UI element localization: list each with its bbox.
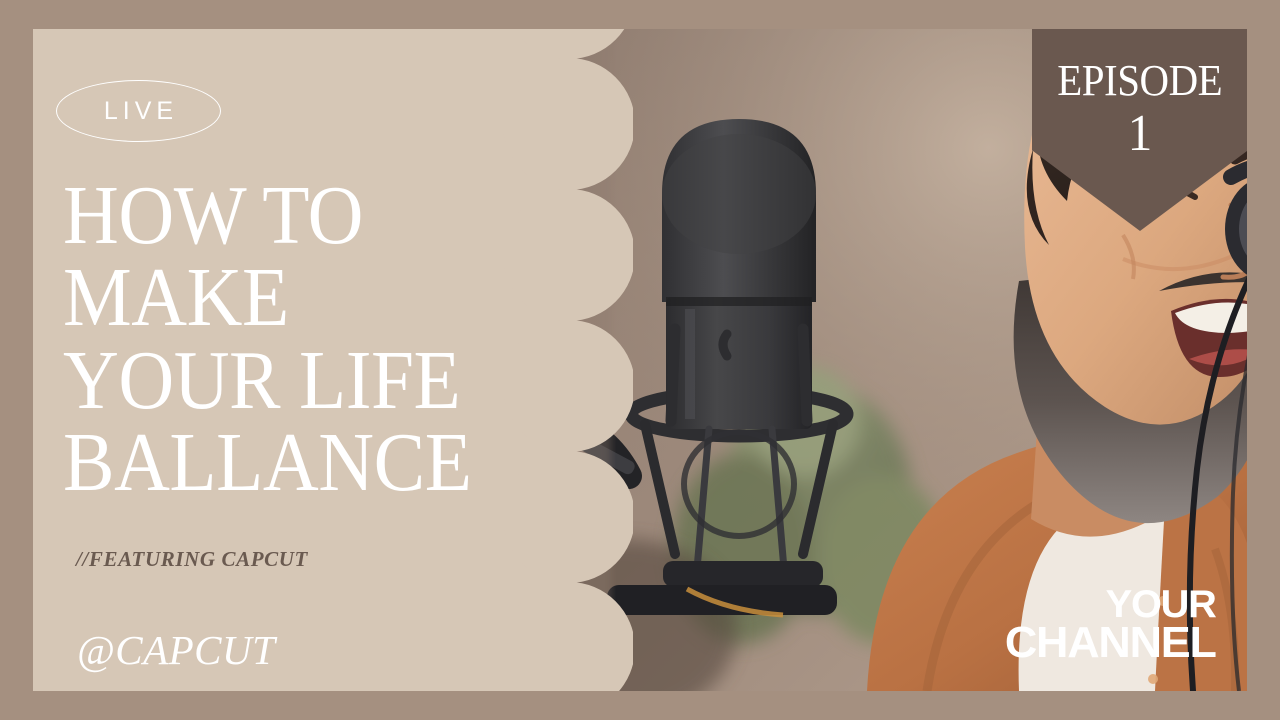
channel-name: YOUR CHANNEL [1009, 587, 1216, 663]
episode-badge-number: 1 [1128, 107, 1153, 162]
featuring-credit: //FEATURING CAPCUT [76, 547, 308, 572]
episode-badge-word: EPISODE [1058, 59, 1223, 103]
left-content-column: LIVE HOW TO MAKE YOUR LIFE BALLANCE //FE… [33, 29, 573, 691]
thumbnail-canvas: LIVE HOW TO MAKE YOUR LIFE BALLANCE //FE… [0, 0, 1280, 720]
inner-panel: LIVE HOW TO MAKE YOUR LIFE BALLANCE //FE… [33, 29, 1247, 691]
live-badge-label: LIVE [99, 99, 178, 124]
page-title: HOW TO MAKE YOUR LIFE BALLANCE [63, 175, 505, 504]
channel-name-line-2: CHANNEL [1005, 623, 1216, 663]
headline-line-2: MAKE [63, 257, 505, 339]
headline-line-3: YOUR LIFE [63, 340, 505, 422]
live-badge: LIVE [56, 80, 221, 142]
headline-line-4: BALLANCE [63, 422, 505, 504]
social-handle: @CAPCUT [77, 626, 275, 674]
headline-line-1: HOW TO [63, 175, 505, 257]
